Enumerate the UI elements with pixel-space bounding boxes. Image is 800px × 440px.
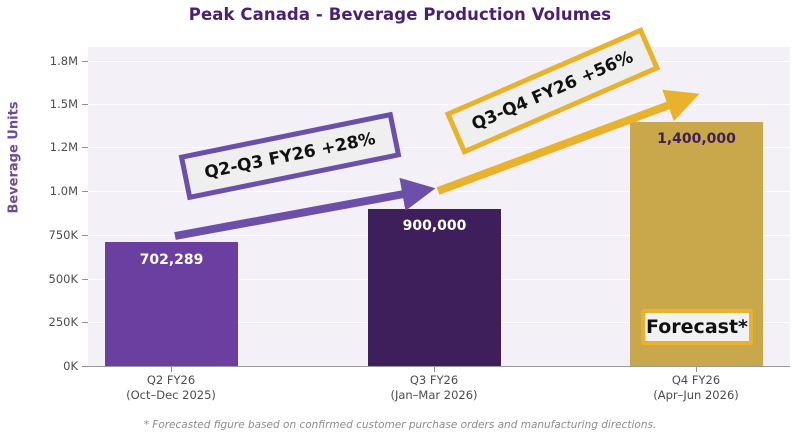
bar-chart: Peak Canada - Beverage Production Volume… [0,0,800,440]
y-tick [82,104,88,105]
y-tick-label: 1.8M [8,54,78,68]
x-label-line1: Q3 FY26 [410,373,458,387]
gridline [88,104,790,106]
x-label-q4-fy26: Q4 FY26 (Apr–Jun 2026) [586,373,800,403]
forecast-badge: Forecast* [641,309,753,345]
y-tick-label: 250K [8,315,78,329]
y-tick [82,235,88,236]
x-label-line1: Q2 FY26 [147,373,195,387]
x-label-line2: (Oct–Dec 2025) [61,388,281,403]
x-axis-line [88,366,790,367]
x-tick [171,367,172,372]
bar-q3-fy26: 900,000 [368,209,501,366]
x-tick [696,367,697,372]
y-tick [82,279,88,280]
x-tick [434,367,435,372]
y-tick [82,61,88,62]
x-label-q3-fy26: Q3 FY26 (Jan–Mar 2026) [324,373,544,403]
x-label-line2: (Apr–Jun 2026) [586,388,800,403]
gridline [88,61,790,63]
chart-title: Peak Canada - Beverage Production Volume… [0,5,800,24]
bar-value-label: 900,000 [368,218,501,234]
chart-footnote: * Forecasted figure based on confirmed c… [0,419,800,431]
y-tick-label: 0K [8,359,78,373]
x-label-q2-fy26: Q2 FY26 (Oct–Dec 2025) [61,373,281,403]
x-label-line2: (Jan–Mar 2026) [324,388,544,403]
y-tick [82,322,88,323]
y-tick-label: 500K [8,272,78,286]
y-tick [82,147,88,148]
bar-value-label: 702,289 [105,252,238,268]
x-label-line1: Q4 FY26 [672,373,720,387]
bar-value-label: 1,400,000 [630,131,763,147]
y-tick [82,191,88,192]
y-tick-label: 750K [8,228,78,242]
bar-q2-fy26: 702,289 [105,242,238,366]
y-axis-title: Beverage Units [7,98,22,218]
